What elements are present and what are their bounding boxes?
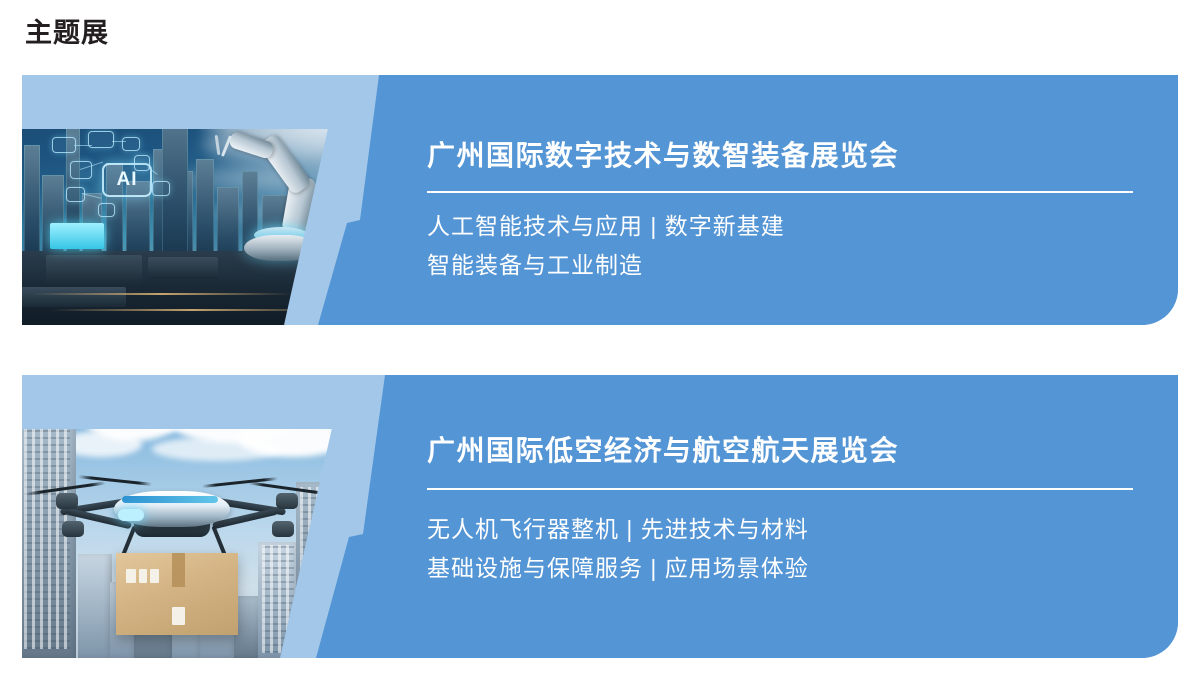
platform-block <box>46 255 142 285</box>
exhibition-card[interactable]: 广州国际低空经济与航空航天展览会 无人机飞行器整机 | 先进技术与材料 基础设施… <box>22 375 1178 658</box>
exhibition-card[interactable]: AI <box>22 75 1178 325</box>
card-subtitle-line: 人工智能技术与应用 | 数字新基建 <box>427 207 1152 246</box>
network-node <box>122 137 140 151</box>
network-node <box>66 187 85 202</box>
title-divider <box>427 488 1133 490</box>
package-label <box>126 569 136 583</box>
network-link <box>112 141 126 142</box>
city-building <box>78 554 112 658</box>
network-node <box>152 181 170 196</box>
package-label <box>139 569 147 583</box>
platform-block <box>148 257 218 279</box>
package-barcode <box>172 607 185 625</box>
drone-headlight <box>118 509 144 521</box>
cloud-shape <box>152 437 282 461</box>
network-node <box>52 137 76 153</box>
drone-motor-hub <box>56 493 78 509</box>
package-tape <box>172 553 185 587</box>
card-title: 广州国际数字技术与数智装备展览会 <box>427 138 1152 173</box>
card-subtitle-line: 基础设施与保障服务 | 应用场景体验 <box>427 549 1152 588</box>
drone-motor-hub <box>272 521 294 537</box>
card-subtitle-line: 无人机飞行器整机 | 先进技术与材料 <box>427 510 1152 549</box>
title-divider <box>427 191 1133 193</box>
skyline-tower <box>24 145 40 267</box>
card-subtitle-line: 智能装备与工业制造 <box>427 246 1152 285</box>
road-light-streak <box>32 293 292 295</box>
package-label <box>150 569 159 583</box>
drone-motor-hub <box>62 521 84 537</box>
drone-motor-hub <box>276 493 298 509</box>
platform-block <box>22 287 126 307</box>
network-node <box>98 203 115 217</box>
drone-accent-stripe <box>122 496 218 503</box>
card-content: 广州国际数字技术与数智装备展览会 人工智能技术与应用 | 数字新基建 智能装备与… <box>427 75 1152 284</box>
card-content: 广州国际低空经济与航空航天展览会 无人机飞行器整机 | 先进技术与材料 基础设施… <box>427 375 1152 587</box>
card-title: 广州国际低空经济与航空航天展览会 <box>427 433 1152 468</box>
building-windows <box>24 427 70 649</box>
card-subtitle-list: 人工智能技术与应用 | 数字新基建 智能装备与工业制造 <box>427 207 1152 284</box>
billboard-screen <box>50 223 104 249</box>
network-link <box>74 145 92 146</box>
page-title: 主题展 <box>25 17 109 49</box>
card-subtitle-list: 无人机飞行器整机 | 先进技术与材料 基础设施与保障服务 | 应用场景体验 <box>427 510 1152 587</box>
network-node <box>70 161 92 179</box>
